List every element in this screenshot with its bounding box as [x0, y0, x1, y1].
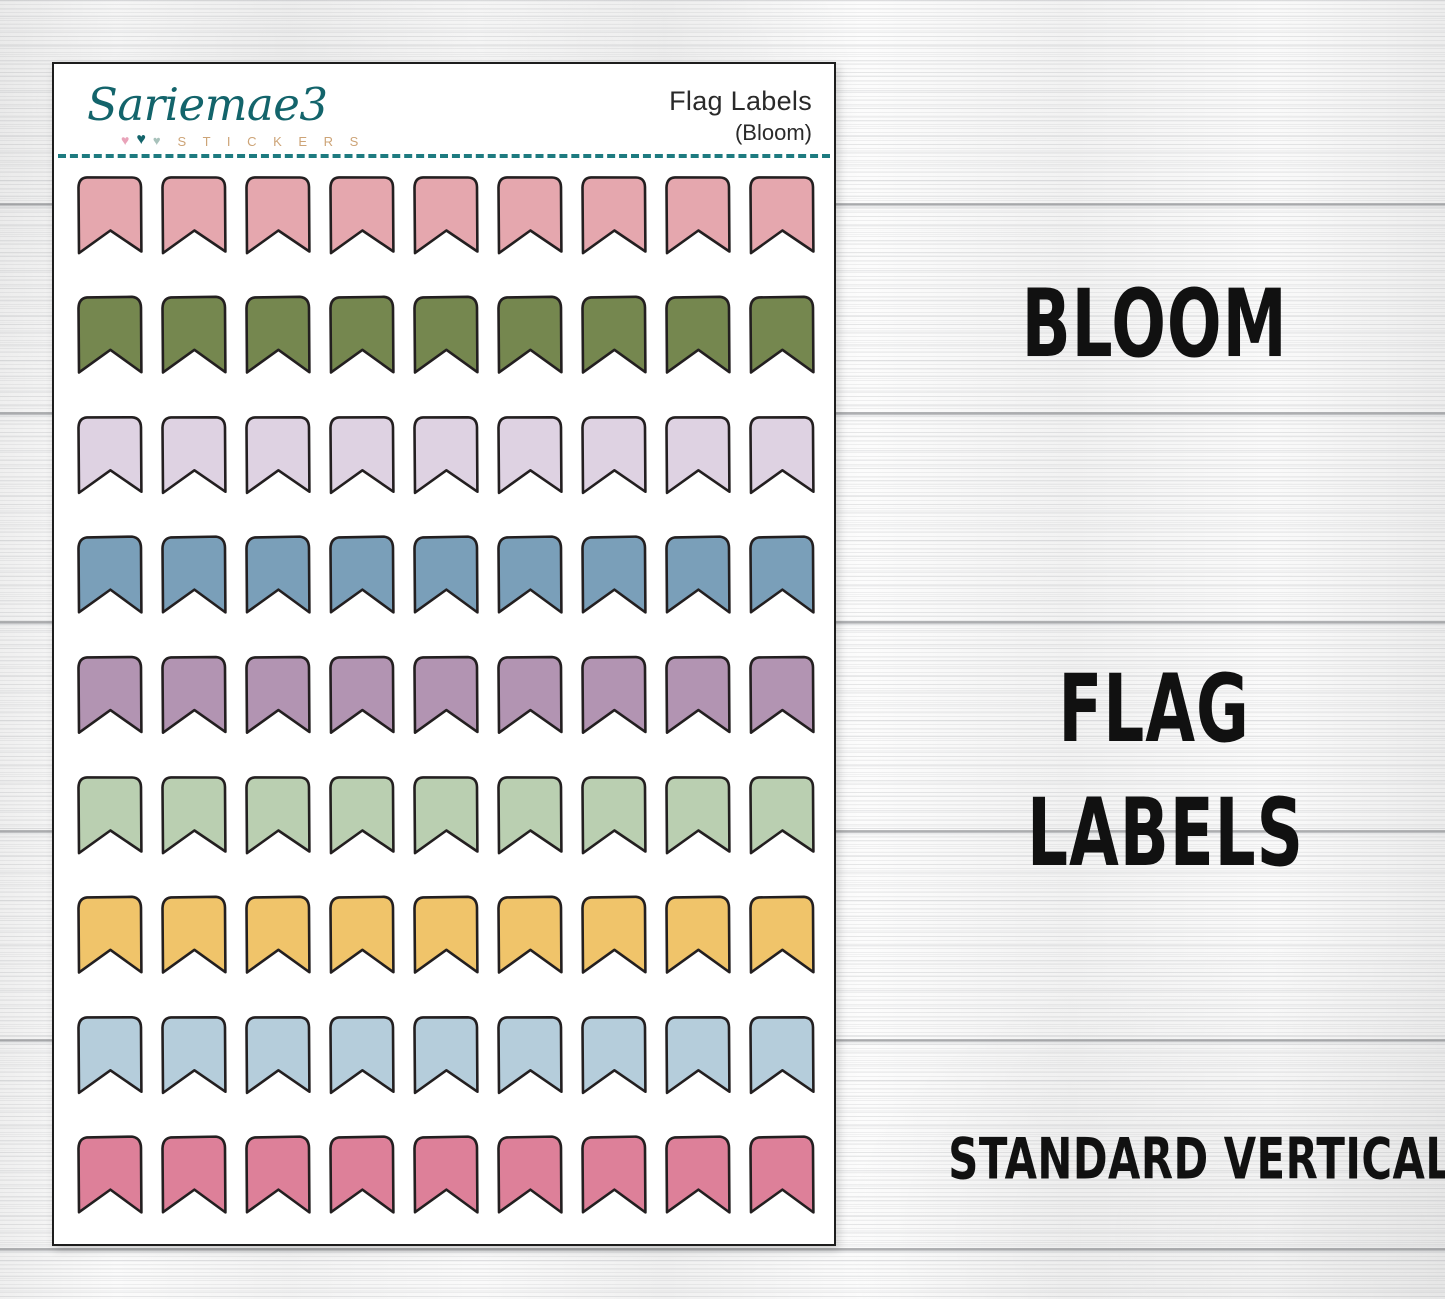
flag-sticker[interactable]	[496, 894, 564, 976]
flag-sticker[interactable]	[160, 1014, 228, 1096]
flag-sticker[interactable]	[496, 294, 564, 376]
flag-sticker[interactable]	[76, 654, 144, 736]
flag-sticker[interactable]	[748, 414, 816, 496]
flag-sticker[interactable]	[76, 534, 144, 616]
flag-sticker[interactable]	[244, 654, 312, 736]
flag-sticker[interactable]	[160, 894, 228, 976]
flag-sticker[interactable]	[244, 414, 312, 496]
flag-sticker[interactable]	[748, 654, 816, 736]
flag-sticker[interactable]	[664, 1014, 732, 1096]
flag-sticker[interactable]	[412, 654, 480, 736]
flag-sticker[interactable]	[748, 294, 816, 376]
sticker-row-denim-blue	[76, 534, 816, 654]
flag-sticker[interactable]	[160, 534, 228, 616]
sticker-row-blush-pink	[76, 174, 816, 294]
flag-sticker[interactable]	[664, 894, 732, 976]
sticker-row-olive-green	[76, 294, 816, 414]
sticker-row-rose-pink	[76, 1134, 816, 1254]
flag-sticker[interactable]	[496, 534, 564, 616]
flag-sticker[interactable]	[748, 1014, 816, 1096]
product-title-line2: LABELS	[1027, 778, 1304, 888]
flag-sticker[interactable]	[244, 294, 312, 376]
flag-sticker[interactable]	[664, 1134, 732, 1216]
sticker-grid	[76, 174, 816, 1254]
flag-sticker[interactable]	[496, 1014, 564, 1096]
flag-sticker[interactable]	[664, 534, 732, 616]
flag-sticker[interactable]	[412, 774, 480, 856]
flag-sticker[interactable]	[160, 774, 228, 856]
flag-sticker[interactable]	[412, 1014, 480, 1096]
sticker-row-golden-yellow	[76, 894, 816, 1014]
brand-tagline: S T I C K E R S	[178, 134, 365, 149]
sticker-row-sage-green	[76, 774, 816, 894]
collection-title: BLOOM	[1022, 269, 1288, 379]
flag-sticker[interactable]	[664, 174, 732, 256]
heart-teal-icon: ♥	[136, 132, 146, 148]
flag-sticker[interactable]	[580, 414, 648, 496]
flag-sticker[interactable]	[496, 774, 564, 856]
flag-sticker[interactable]	[244, 774, 312, 856]
flag-sticker[interactable]	[580, 654, 648, 736]
flag-sticker[interactable]	[160, 1134, 228, 1216]
sticker-row-soft-lilac	[76, 414, 816, 534]
flag-sticker[interactable]	[328, 174, 396, 256]
flag-sticker[interactable]	[328, 774, 396, 856]
variant-label: STANDARD VERTICAL	[948, 1126, 1445, 1192]
flag-sticker[interactable]	[160, 414, 228, 496]
sticker-row-dusty-mauve	[76, 654, 816, 774]
flag-sticker[interactable]	[664, 774, 732, 856]
product-title-line1: FLAG	[1058, 654, 1249, 764]
flag-sticker[interactable]	[328, 654, 396, 736]
flag-sticker[interactable]	[76, 1014, 144, 1096]
flag-sticker[interactable]	[76, 174, 144, 256]
flag-sticker[interactable]	[328, 1134, 396, 1216]
flag-sticker[interactable]	[328, 1014, 396, 1096]
flag-sticker[interactable]	[76, 414, 144, 496]
flag-sticker[interactable]	[496, 414, 564, 496]
flag-sticker[interactable]	[496, 654, 564, 736]
flag-sticker[interactable]	[328, 534, 396, 616]
flag-sticker[interactable]	[412, 894, 480, 976]
dashed-divider	[58, 154, 830, 158]
flag-sticker[interactable]	[160, 294, 228, 376]
flag-sticker[interactable]	[496, 1134, 564, 1216]
sheet-title-block: Flag Labels (Bloom)	[669, 86, 812, 146]
flag-sticker[interactable]	[412, 294, 480, 376]
flag-sticker[interactable]	[580, 774, 648, 856]
flag-sticker[interactable]	[76, 294, 144, 376]
sheet-title: Flag Labels	[669, 86, 812, 117]
flag-sticker[interactable]	[580, 294, 648, 376]
flag-sticker[interactable]	[244, 174, 312, 256]
flag-sticker[interactable]	[328, 894, 396, 976]
flag-sticker[interactable]	[580, 1134, 648, 1216]
flag-sticker[interactable]	[76, 894, 144, 976]
flag-sticker[interactable]	[412, 1134, 480, 1216]
flag-sticker[interactable]	[580, 174, 648, 256]
flag-sticker[interactable]	[328, 414, 396, 496]
flag-sticker[interactable]	[76, 1134, 144, 1216]
flag-sticker[interactable]	[76, 774, 144, 856]
flag-sticker[interactable]	[244, 1014, 312, 1096]
flag-sticker[interactable]	[580, 534, 648, 616]
flag-sticker[interactable]	[244, 1134, 312, 1216]
flag-sticker[interactable]	[664, 414, 732, 496]
brand-name: Sariemae3	[87, 82, 387, 127]
flag-sticker[interactable]	[244, 534, 312, 616]
flag-sticker[interactable]	[496, 174, 564, 256]
flag-sticker[interactable]	[580, 1014, 648, 1096]
sticker-sheet: Sariemae3 ♥ ♥ ♥ S T I C K E R S Flag Lab…	[52, 62, 836, 1246]
flag-sticker[interactable]	[664, 654, 732, 736]
flag-sticker[interactable]	[748, 1134, 816, 1216]
flag-sticker[interactable]	[412, 174, 480, 256]
flag-sticker[interactable]	[748, 774, 816, 856]
brand-block: Sariemae3 ♥ ♥ ♥ S T I C K E R S	[87, 82, 387, 149]
sheet-subtitle: (Bloom)	[669, 120, 812, 146]
flag-sticker[interactable]	[748, 534, 816, 616]
flag-sticker[interactable]	[412, 414, 480, 496]
sticker-row-powder-blue	[76, 1014, 816, 1134]
flag-sticker[interactable]	[580, 894, 648, 976]
flag-sticker[interactable]	[664, 294, 732, 376]
flag-sticker[interactable]	[160, 174, 228, 256]
flag-sticker[interactable]	[244, 894, 312, 976]
heart-pink-icon: ♥	[121, 133, 129, 147]
flag-sticker[interactable]	[160, 654, 228, 736]
flag-sticker[interactable]	[328, 294, 396, 376]
flag-sticker[interactable]	[748, 894, 816, 976]
brand-tagline-row: ♥ ♥ ♥ S T I C K E R S	[121, 133, 387, 149]
flag-sticker[interactable]	[412, 534, 480, 616]
flag-sticker[interactable]	[748, 174, 816, 256]
heart-sage-icon: ♥	[153, 134, 161, 147]
